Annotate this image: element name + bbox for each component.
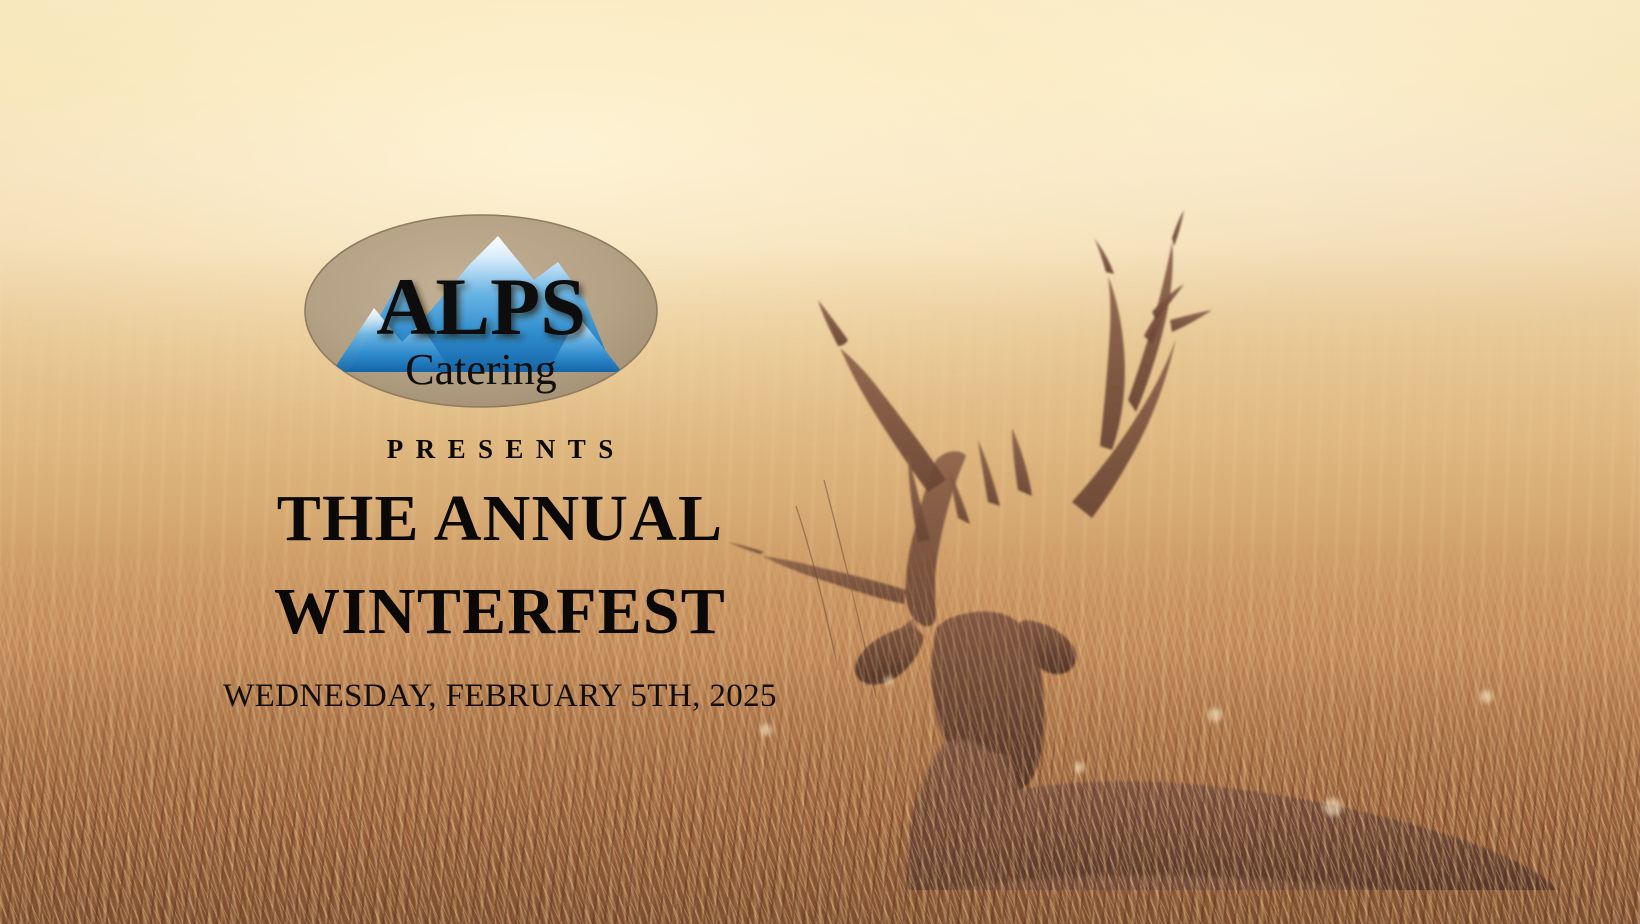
bokeh-speck xyxy=(1324,798,1342,816)
logo-wordmark: ALPS xyxy=(376,261,586,352)
bokeh-speck xyxy=(760,724,772,736)
bokeh-speck xyxy=(1074,762,1085,773)
event-title-line-1: THE ANNUAL xyxy=(0,485,1000,552)
presents-label: PRESENTS xyxy=(0,436,1000,463)
headline-block: PRESENTS THE ANNUAL WINTERFEST WEDNESDAY… xyxy=(0,436,1000,713)
bokeh-speck xyxy=(1208,708,1222,722)
bokeh-speck xyxy=(1480,690,1493,703)
event-title-line-2: WINTERFEST xyxy=(0,578,1000,645)
event-date: WEDNESDAY, FEBRUARY 5TH, 2025 xyxy=(0,680,1000,713)
logo-subtitle: Catering xyxy=(405,345,557,394)
event-poster: ALPS Catering PRESENTS THE ANNUAL WINTER… xyxy=(0,0,1640,924)
alps-catering-logo[interactable]: ALPS Catering xyxy=(302,212,660,410)
